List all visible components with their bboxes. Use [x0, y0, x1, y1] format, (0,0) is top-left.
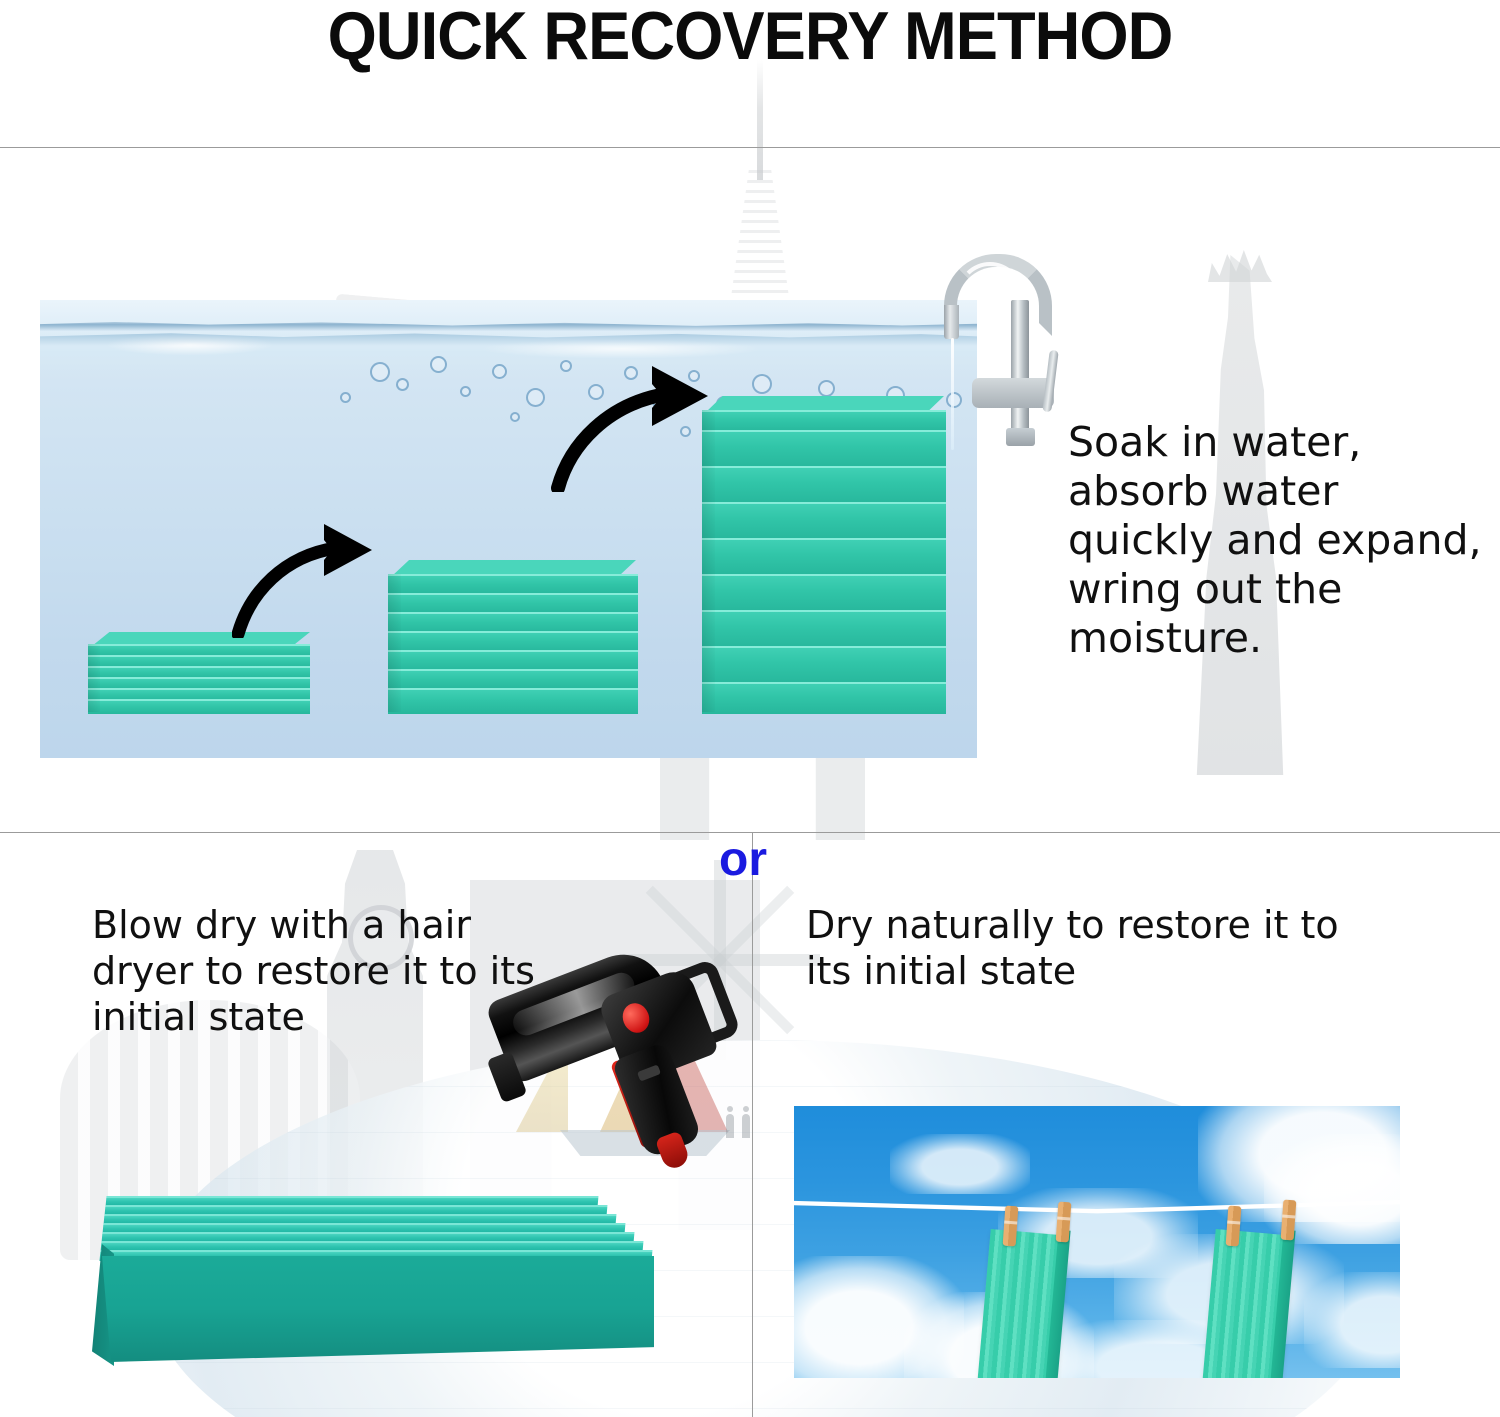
hair-dryer-icon	[492, 962, 712, 1162]
eiffel-tower-mast-icon	[757, 60, 763, 180]
divider-under-title	[0, 147, 1500, 148]
curved-arrow-icon	[550, 362, 730, 492]
clothespin-icon	[1226, 1206, 1242, 1247]
clothespin-icon	[1003, 1206, 1019, 1247]
water-stream-icon	[951, 338, 954, 450]
statue-of-liberty-crown-icon	[1208, 248, 1272, 282]
clothespin-icon	[1281, 1200, 1297, 1241]
divider-vertical	[752, 833, 753, 1417]
air-dry-caption: Dry naturally to restore it to its initi…	[806, 902, 1366, 994]
clothespin-icon	[1056, 1202, 1072, 1243]
curved-arrow-icon	[232, 518, 392, 638]
soak-caption: Soak in water, absorb water quickly and …	[1068, 418, 1488, 663]
infographic-page: QUICK RECOVERY METHOD	[0, 0, 1500, 1417]
people-silhouette-icon	[726, 1104, 786, 1138]
sky-clothesline-image	[794, 1106, 1400, 1378]
compressed-sponge-block-image	[88, 1194, 668, 1374]
or-divider-label: or	[719, 832, 767, 888]
page-title: QUICK RECOVERY METHOD	[53, 0, 1448, 72]
water-tank-image	[40, 300, 977, 758]
